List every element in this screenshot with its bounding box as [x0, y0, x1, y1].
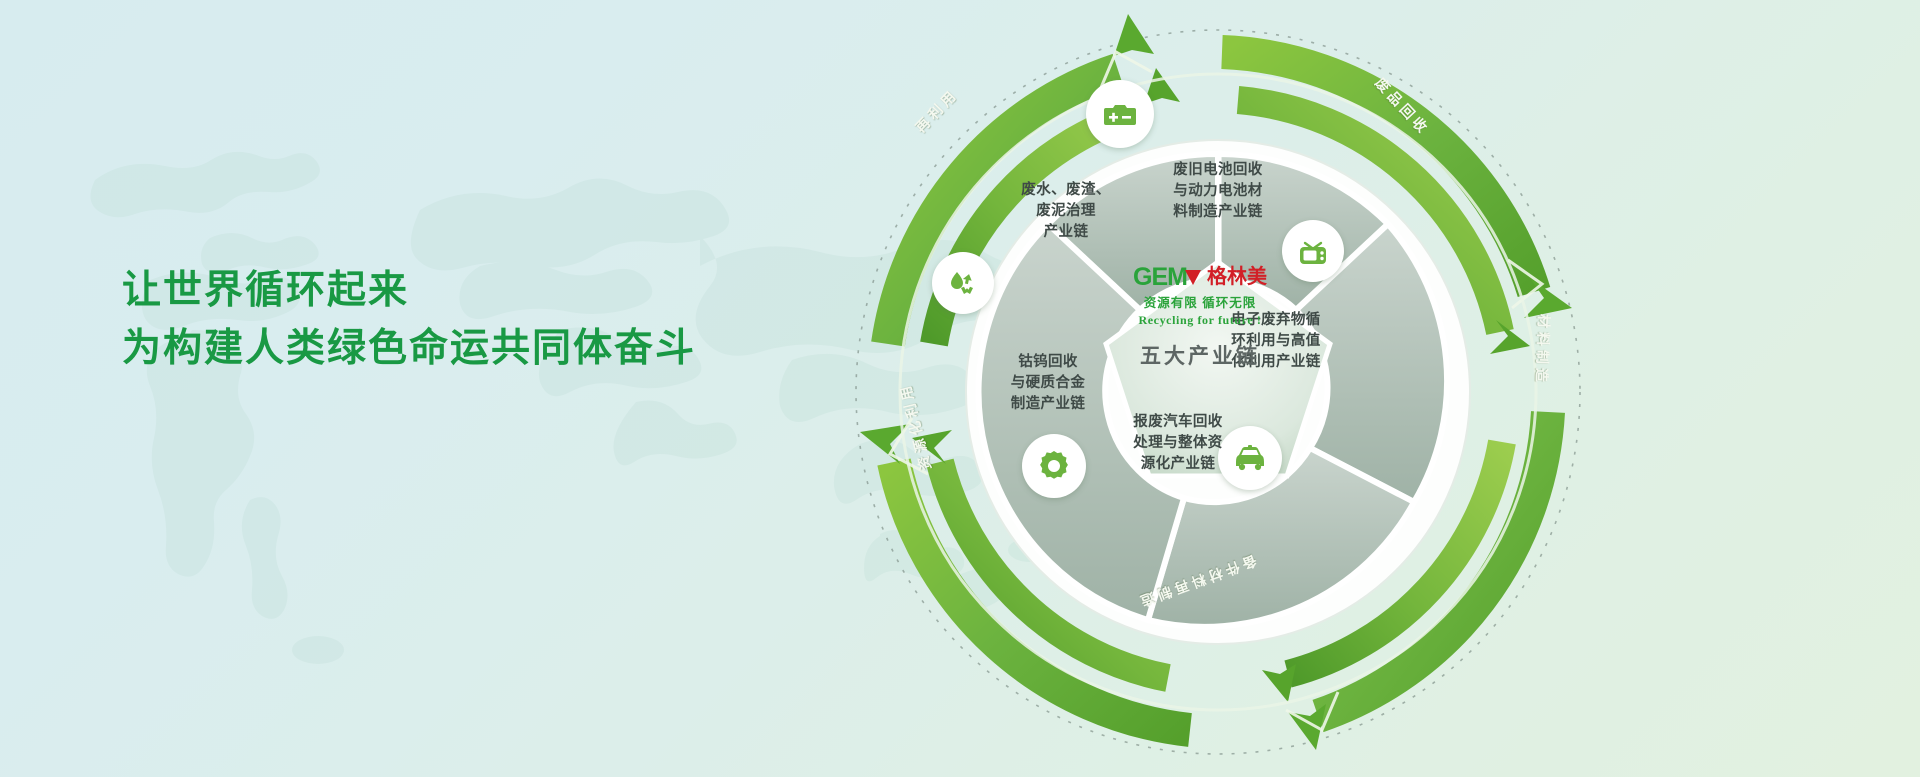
industry-chain-diagram: 废水、废渣、 废泥治理 产业链 废旧电池回收 与动力电池材 料制造产业链 电子废…	[818, 0, 1618, 777]
headline: 让世界循环起来 为构建人类绿色命运共同体奋斗	[122, 262, 696, 378]
headline-line-1: 让世界循环起来	[122, 262, 696, 320]
center-title: 五大产业链	[1080, 340, 1320, 370]
segment-label-scrap-car: 报废汽车回收 处理与整体资 源化产业链	[1108, 412, 1248, 475]
hero-banner: 让世界循环起来 为构建人类绿色命运共同体奋斗	[0, 0, 1920, 777]
headline-line-2: 为构建人类绿色命运共同体奋斗	[122, 320, 696, 378]
logo-slogan-en: Recycling for future !	[1080, 313, 1320, 328]
segment-label-waste-water: 废水、废渣、 废泥治理 产业链	[996, 180, 1136, 243]
battery-icon	[1102, 96, 1138, 132]
gear-icon-badge[interactable]	[1022, 434, 1086, 498]
gear-icon	[1036, 448, 1072, 484]
logo-triangle-icon	[1185, 270, 1201, 285]
logo-wordmark: GEM	[1133, 265, 1187, 290]
logo-slogan-cn: 资源有限 循环无限	[1080, 292, 1320, 311]
battery-icon-badge[interactable]	[1086, 80, 1154, 148]
recycle-water-icon-badge[interactable]	[932, 252, 994, 314]
segment-label-battery: 废旧电池回收 与动力电池材 料制造产业链	[1148, 160, 1288, 223]
recycle-water-icon	[946, 266, 980, 300]
logo-wordmark-cn: 格林美	[1207, 267, 1267, 287]
gem-logo: GEM 格林美 资源有限 循环无限 Recycling for future !	[1080, 264, 1320, 328]
ring-label-material-making: 材料制造	[1531, 314, 1554, 387]
tv-icon	[1296, 234, 1330, 268]
